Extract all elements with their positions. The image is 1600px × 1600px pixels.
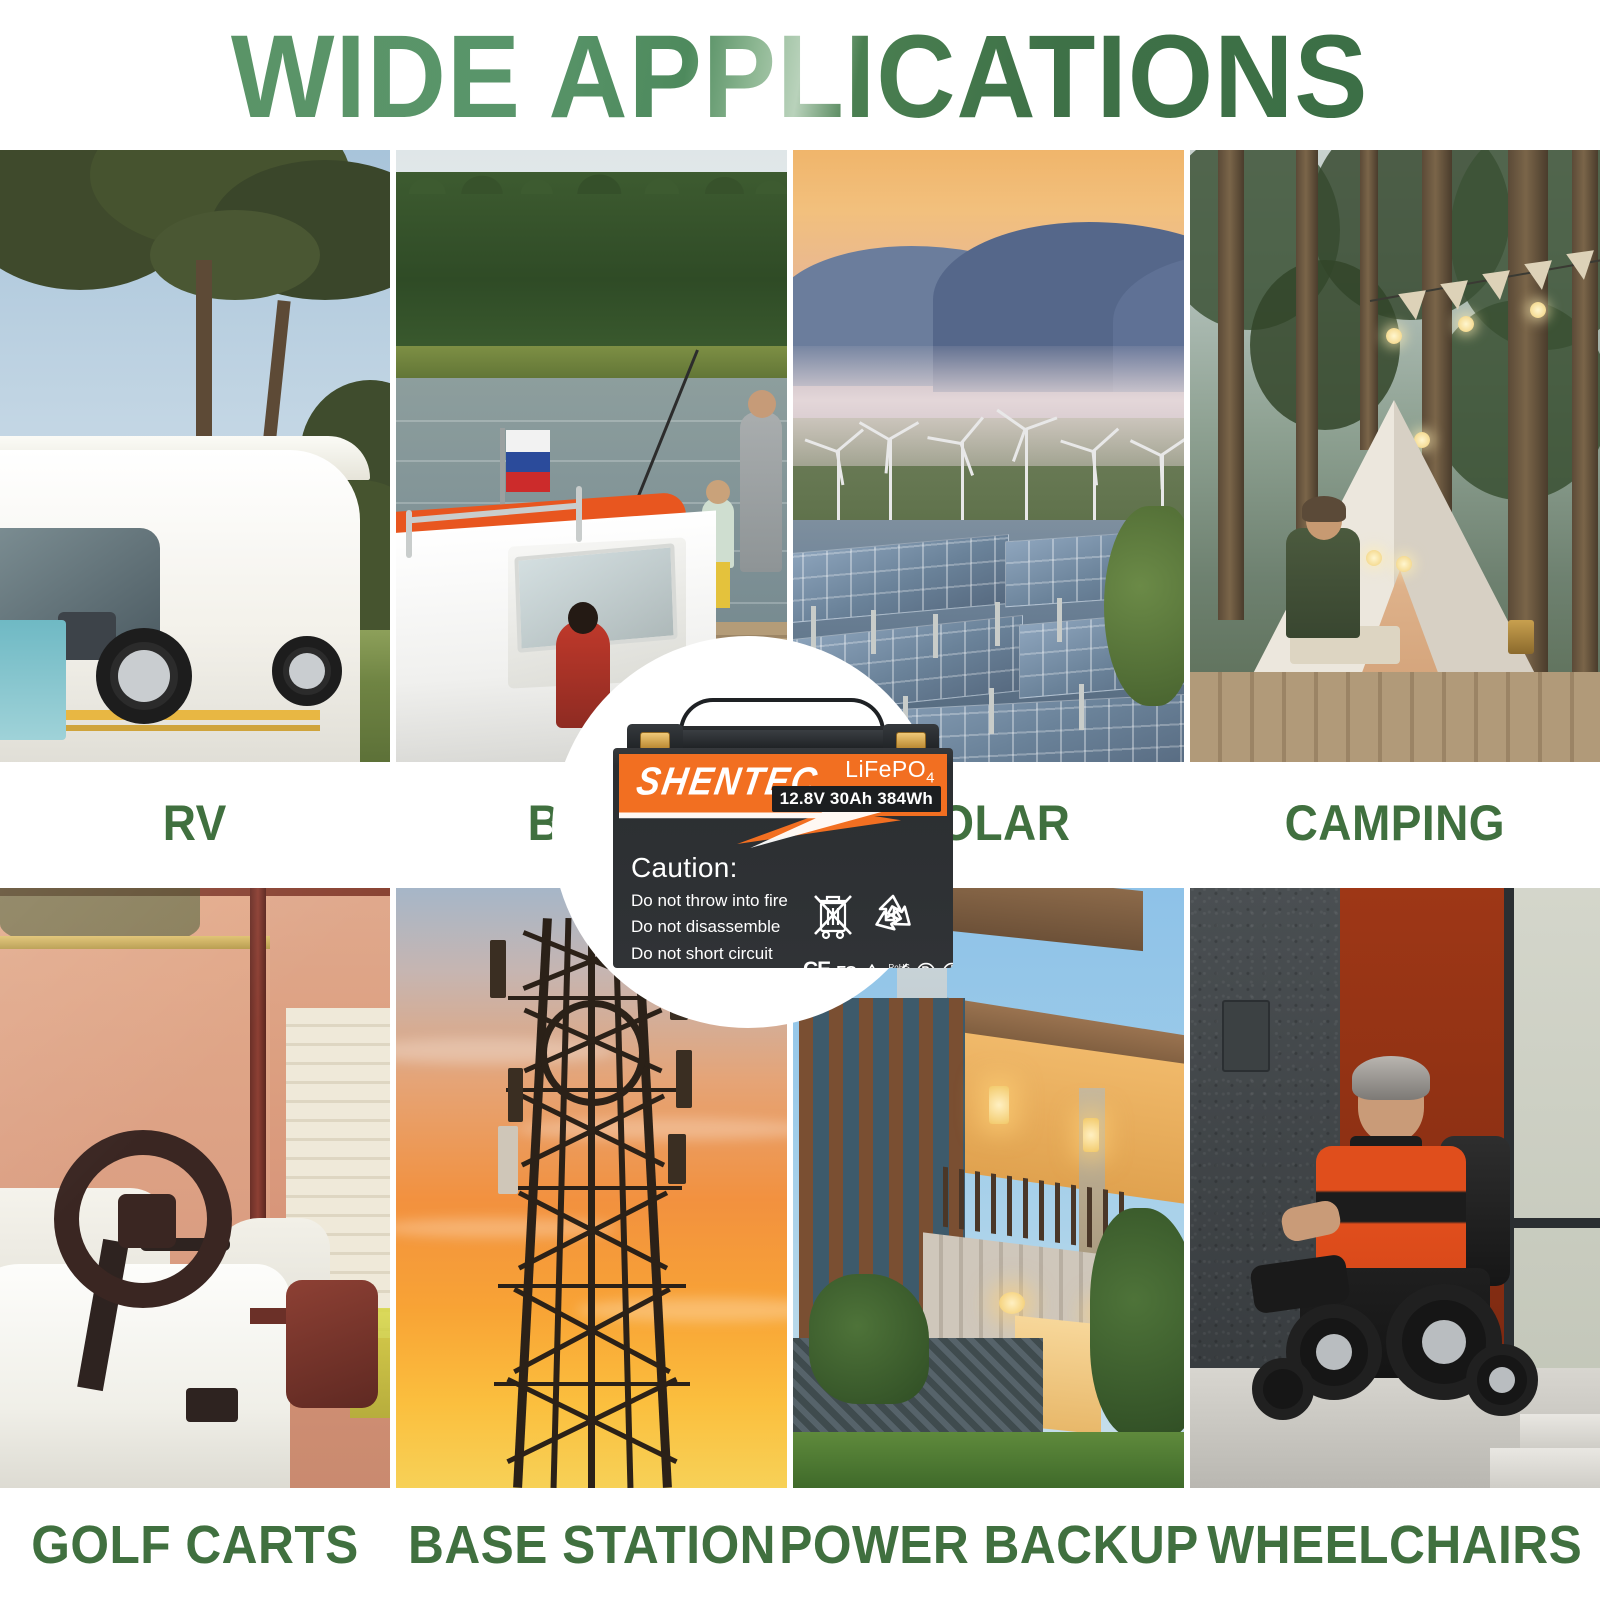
- caution-item: Do not throw into fire: [631, 888, 788, 914]
- label-cell-base-station: BASE STATION: [396, 1490, 787, 1600]
- label-cell-power-backup: POWER BACKUP: [793, 1490, 1184, 1600]
- application-label-rv: RV: [163, 794, 227, 852]
- label-cell-wheelchairs: WHEELCHAIRS: [1190, 1490, 1600, 1600]
- power-circle-mark-icon: [942, 962, 953, 968]
- battery-certification-marks: CE FC RoHS: [803, 890, 937, 968]
- application-photo-golf-carts: [0, 888, 390, 1488]
- application-label-camping: CAMPING: [1285, 794, 1505, 852]
- recycling-icon: [867, 890, 919, 940]
- battery-spec-badge: 12.8V 30Ah 384Wh: [772, 786, 941, 812]
- caution-item: Do not short circuit: [631, 941, 788, 967]
- rohs-mark-icon: RoHS: [888, 964, 910, 968]
- applications-bottom-labels: GOLF CARTS BASE STATION POWER BACKUP WHE…: [0, 1490, 1600, 1600]
- rv-photo: [0, 150, 390, 762]
- application-photo-rv: [0, 150, 390, 762]
- battery-chemistry: LiFePO4: [845, 756, 935, 787]
- warning-triangle-icon: [862, 964, 882, 968]
- battery-chemistry-text: LiFePO: [845, 756, 926, 782]
- golf-cart-photo: [0, 888, 390, 1488]
- battery-top-inset: [669, 730, 895, 748]
- label-cell-rv: RV: [0, 762, 390, 884]
- label-cell-camping: CAMPING: [1190, 762, 1600, 884]
- battery-chemistry-subscript: 4: [926, 770, 935, 787]
- fc-mark-icon: FC: [836, 964, 855, 968]
- application-label-power-backup: POWER BACKUP: [779, 1514, 1199, 1576]
- page-title: WIDE APPLICATIONS: [231, 18, 1369, 136]
- caution-item: Do not disassemble: [631, 914, 788, 940]
- certification-text-marks: CE FC RoHS: [803, 958, 953, 968]
- battery-caution-heading: Caution:: [631, 852, 738, 884]
- camping-photo: [1190, 150, 1600, 762]
- ce-mark-icon: CE: [803, 958, 830, 968]
- page-title-container: WIDE APPLICATIONS: [0, 14, 1600, 140]
- product-battery: SHENTEC LiFePO4 12.8V 30Ah 384Wh Caution…: [613, 700, 953, 968]
- wheelie-bin-crossed-out-icon: [811, 890, 855, 940]
- battery-body: SHENTEC LiFePO4 12.8V 30Ah 384Wh Caution…: [613, 748, 953, 968]
- label-cell-golf-carts: GOLF CARTS: [0, 1490, 390, 1600]
- application-label-wheelchairs: WHEELCHAIRS: [1208, 1514, 1583, 1576]
- application-label-base-station: BASE STATION: [408, 1514, 776, 1576]
- r-circle-mark-icon: [916, 962, 936, 968]
- application-photo-wheelchairs: [1190, 888, 1600, 1488]
- battery-caution-list: Do not throw into fire Do not disassembl…: [631, 888, 788, 967]
- application-label-golf-carts: GOLF CARTS: [31, 1514, 359, 1576]
- application-photo-camping: [1190, 150, 1600, 762]
- wheelchair-photo: [1190, 888, 1600, 1488]
